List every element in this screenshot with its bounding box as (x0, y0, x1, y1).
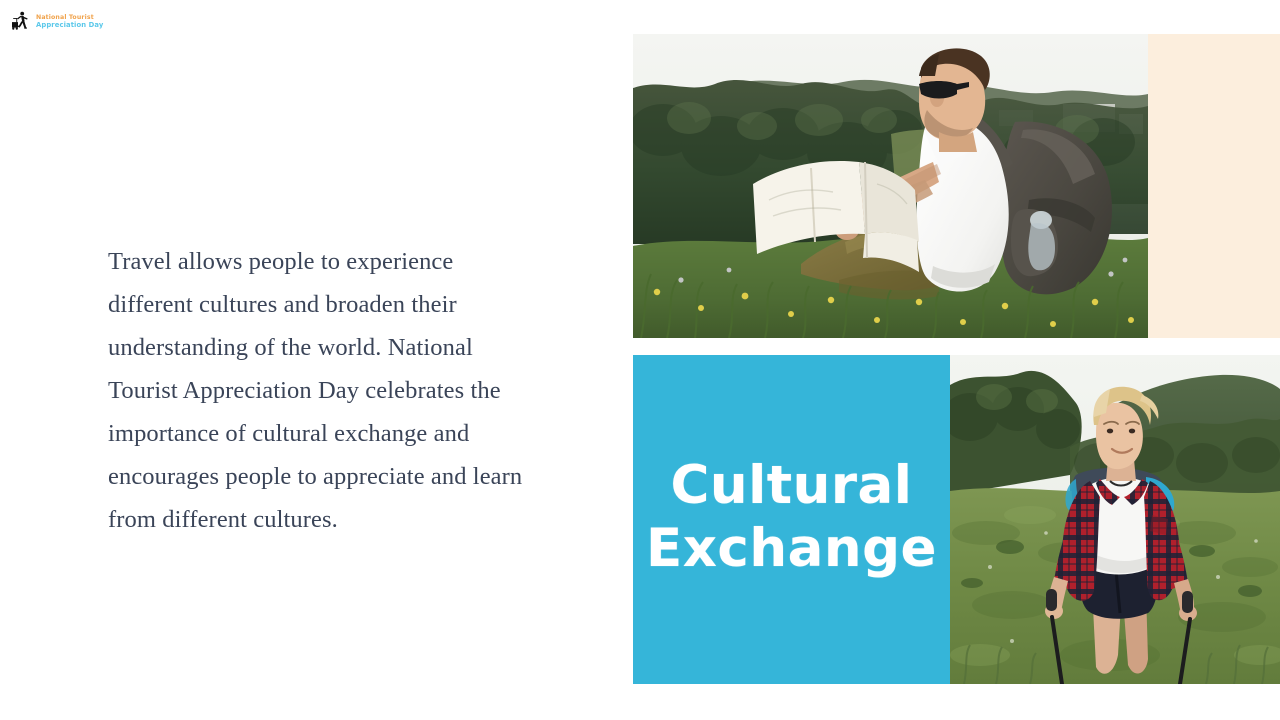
walking-traveler-with-suitcase-icon (8, 10, 32, 34)
photo-man-reading-map (633, 34, 1148, 338)
photo-woman-hiking-image (950, 355, 1280, 684)
cultural-exchange-title: Cultural Exchange (646, 454, 937, 586)
photo-man-reading-map-image (633, 34, 1148, 338)
slide-canvas: National Tourist Appreciation Day Travel… (0, 0, 1280, 720)
cultural-exchange-title-line-1: Cultural (646, 454, 937, 517)
cultural-exchange-title-line-2: Exchange (646, 517, 937, 580)
body-paragraph: Travel allows people to experience diffe… (108, 240, 528, 541)
brand-logo[interactable]: National Tourist Appreciation Day (8, 8, 208, 36)
brand-logo-line-2: Appreciation Day (36, 22, 103, 29)
brand-logo-wordmark: National Tourist Appreciation Day (36, 15, 103, 29)
cultural-exchange-banner: Cultural Exchange (633, 355, 950, 684)
cream-accent-panel (1148, 34, 1280, 338)
photo-woman-hiking (950, 355, 1280, 684)
